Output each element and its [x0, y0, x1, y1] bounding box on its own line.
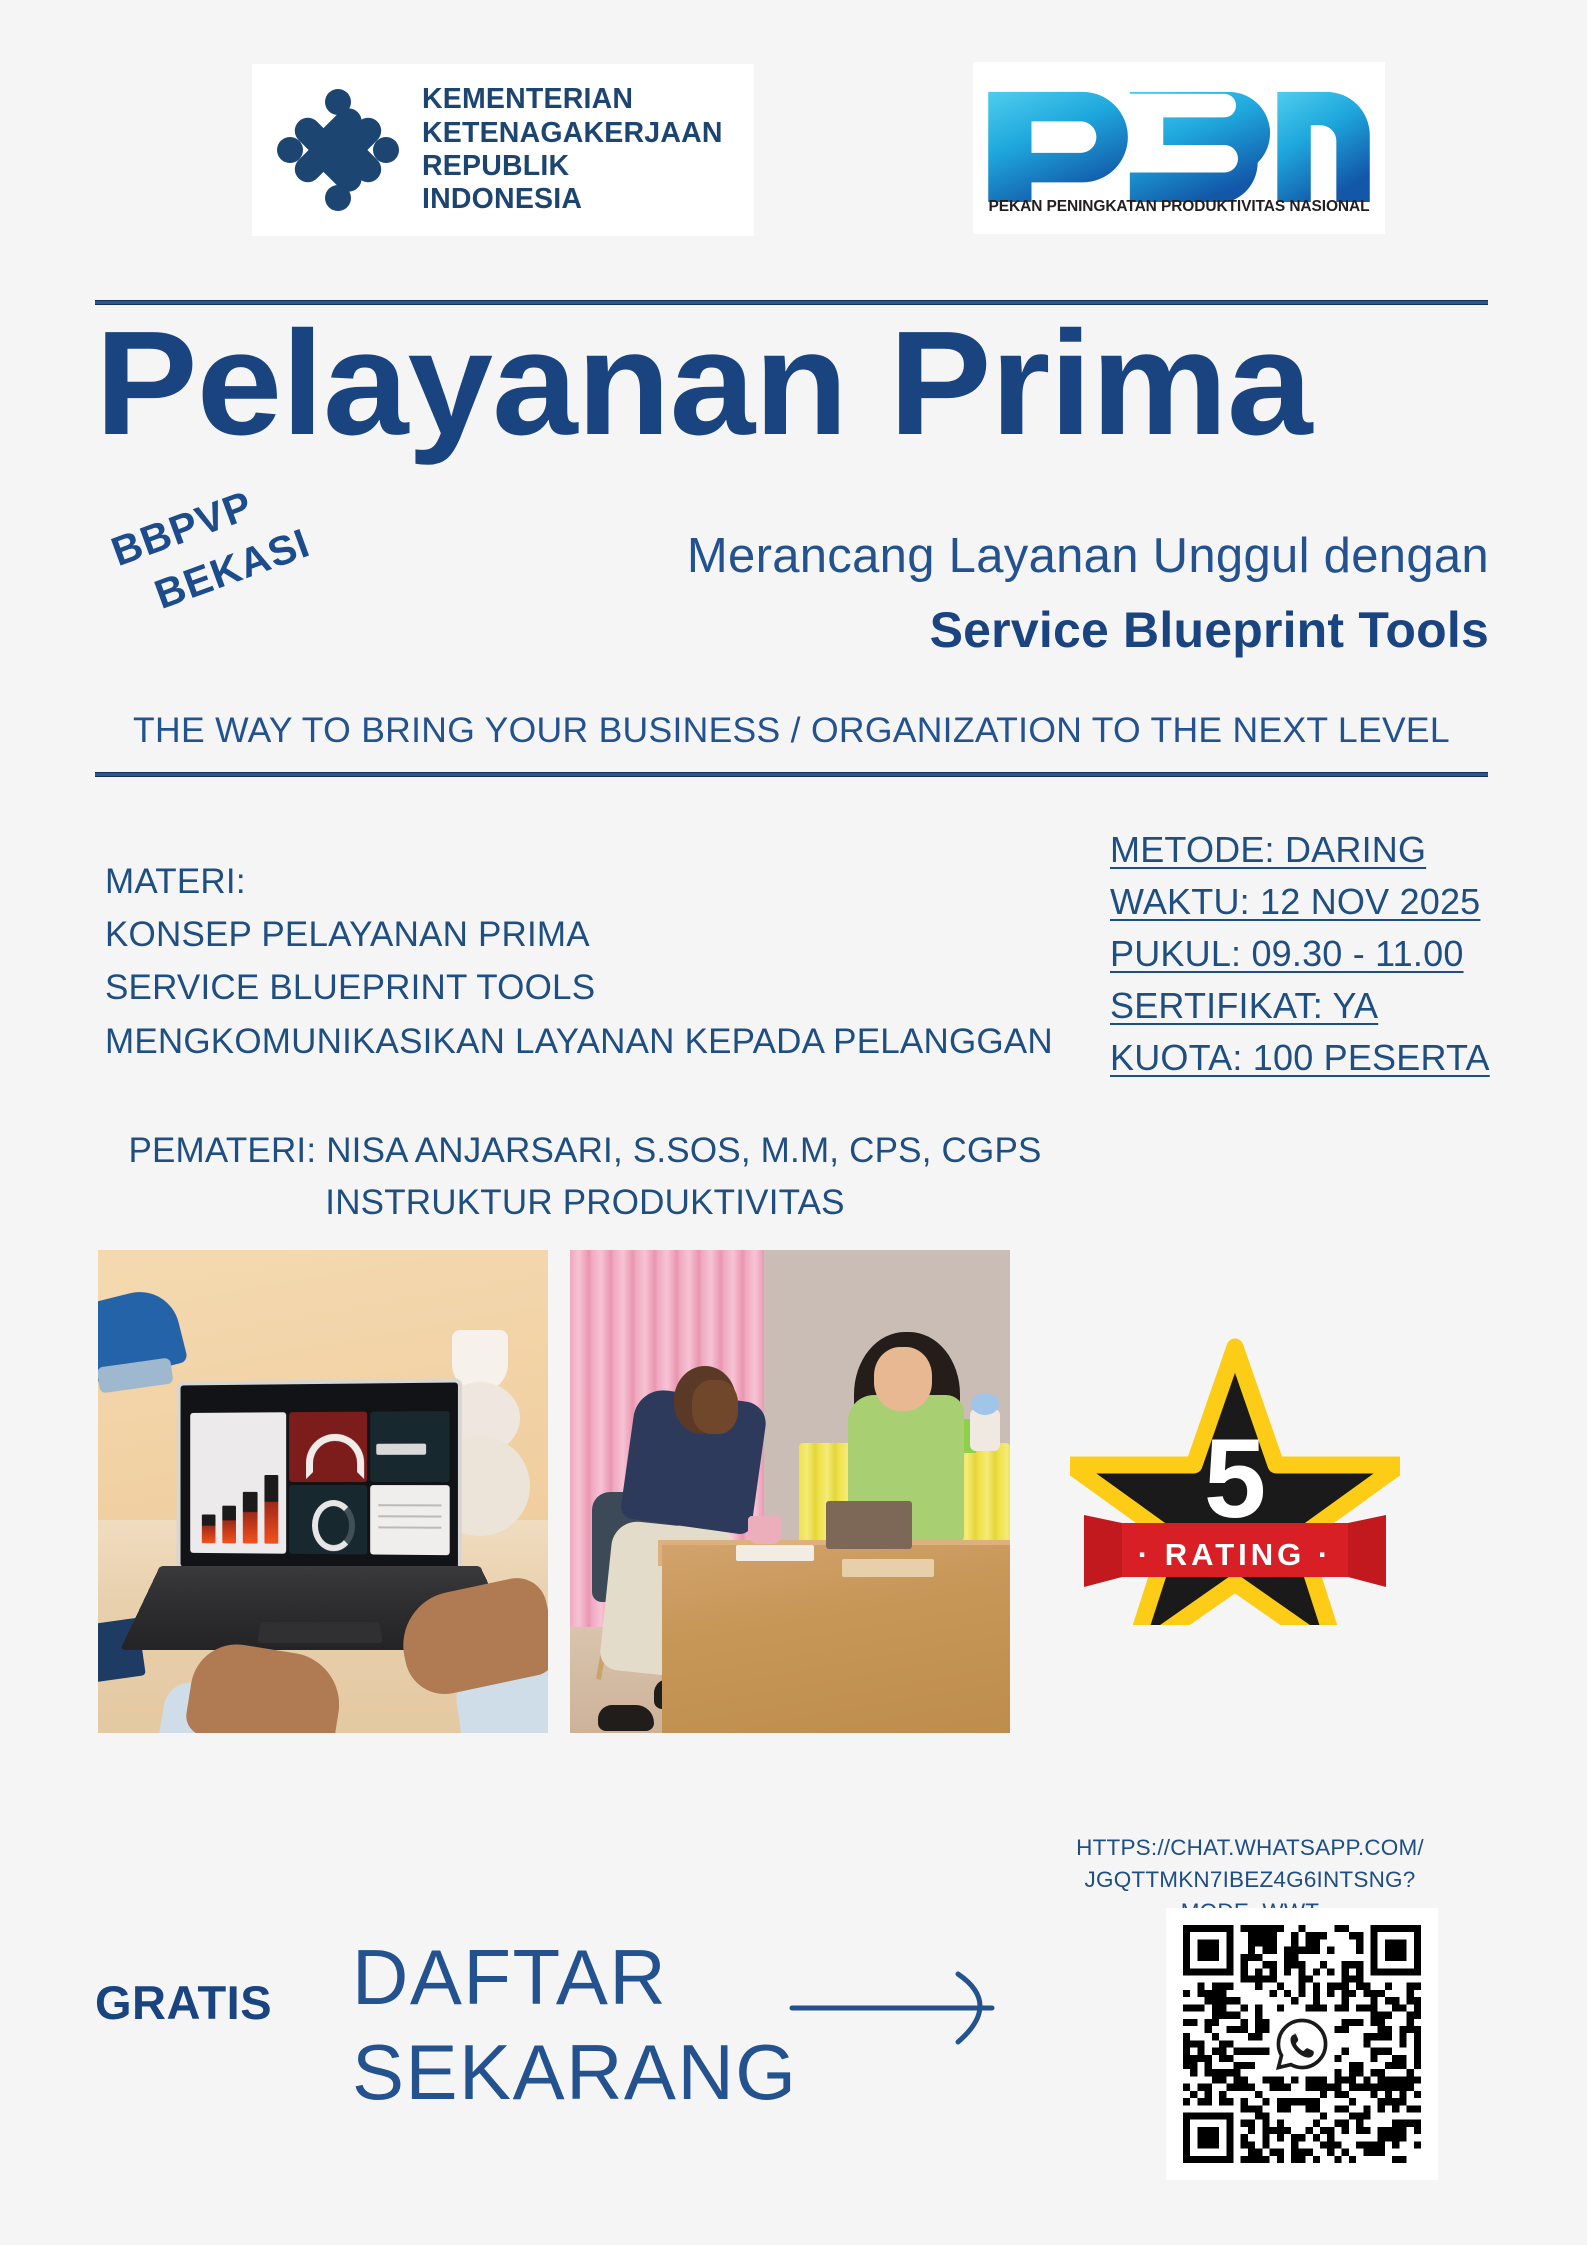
p3n-logo: PEKAN PENINGKATAN PRODUKTIVITAS NASIONAL	[973, 62, 1385, 234]
subtitle-line-2: Service Blueprint Tools	[930, 602, 1489, 660]
kemenaker-emblem-icon	[274, 86, 402, 214]
event-info-block: METODE: DARING WAKTU: 12 NOV 2025 PUKUL:…	[1110, 832, 1490, 1092]
laptop-on-desk	[826, 1501, 912, 1549]
materi-block: MATERI: KONSEP PELAYANAN PRIMA SERVICE B…	[105, 855, 1053, 1068]
info-kuota: KUOTA: 100 PESERTA	[1110, 1037, 1490, 1078]
arrow-right-icon	[788, 1966, 1010, 2050]
info-pukul: PUKUL: 09.30 - 11.00	[1110, 933, 1464, 974]
wooden-desk	[662, 1545, 1010, 1733]
info-sertifikat: SERTIFIKAT: YA	[1110, 985, 1378, 1026]
materi-heading: MATERI:	[105, 855, 1053, 908]
materi-item-2: SERVICE BLUEPRINT TOOLS	[105, 961, 1053, 1014]
logo-band: KEMENTERIAN KETENAGAKERJAAN REPUBLIK IND…	[0, 68, 1587, 248]
ministry-line-1: KEMENTERIAN	[422, 83, 723, 116]
ministry-line-4: INDONESIA	[422, 183, 723, 216]
page-title: Pelayanan Prima	[95, 310, 1544, 458]
rating-value: 5	[1204, 1416, 1266, 1541]
speaker-role: INSTRUKTUR PRODUKTIVITAS	[105, 1177, 1065, 1229]
tagline: THE WAY TO BRING YOUR BUSINESS / ORGANIZ…	[95, 710, 1488, 751]
ministry-line-3: REPUBLIK	[422, 150, 723, 183]
coffee-mug	[748, 1516, 782, 1544]
info-metode: METODE: DARING	[1110, 829, 1426, 870]
photo-laptop-dashboard	[98, 1250, 548, 1733]
whatsapp-qr-code[interactable]	[1166, 1908, 1438, 2180]
photo-office-collaboration	[570, 1250, 1010, 1733]
bbpvp-bekasi-badge: BBPVP BEKASI	[104, 464, 318, 632]
p3n-wordmark-icon	[981, 84, 1377, 202]
ministry-line-2: KETENAGAKERJAAN	[422, 117, 723, 150]
kemenaker-logo: KEMENTERIAN KETENAGAKERJAAN REPUBLIK IND…	[252, 64, 754, 236]
kemenaker-logo-text: KEMENTERIAN KETENAGAKERJAAN REPUBLIK IND…	[422, 83, 723, 216]
whatsapp-url-line-1: HTTPS://CHAT.WHATSAPP.COM/	[1040, 1832, 1460, 1864]
register-cta-line-1: DAFTAR	[352, 1930, 797, 2025]
poster-canvas: KEMENTERIAN KETENAGAKERJAAN REPUBLIK IND…	[0, 0, 1587, 2245]
ribbon-label: · RATING ·	[1138, 1537, 1332, 1572]
register-cta-line-2: SEKARANG	[352, 2025, 797, 2120]
whatsapp-icon	[1270, 2012, 1334, 2076]
five-star-rating-badge: 5 · RATING ·	[1070, 1325, 1400, 1625]
price-label: GRATIS	[95, 1975, 272, 2030]
materi-item-1: KONSEP PELAYANAN PRIMA	[105, 908, 1053, 961]
divider-bottom	[95, 772, 1488, 777]
p3n-tagline: PEKAN PENINGKATAN PRODUKTIVITAS NASIONAL	[989, 198, 1370, 216]
register-cta: DAFTAR SEKARANG	[352, 1930, 797, 2120]
subtitle-line-1: Merancang Layanan Unggul dengan	[687, 528, 1489, 584]
materi-item-3: MENGKOMUNIKASIKAN LAYANAN KEPADA PELANGG…	[105, 1015, 1053, 1068]
speaker-block: PEMATERI: NISA ANJARSARI, S.SOS, M.M, CP…	[105, 1125, 1065, 1229]
info-waktu: WAKTU: 12 NOV 2025	[1110, 881, 1480, 922]
speaker-name: PEMATERI: NISA ANJARSARI, S.SOS, M.M, CP…	[105, 1125, 1065, 1177]
